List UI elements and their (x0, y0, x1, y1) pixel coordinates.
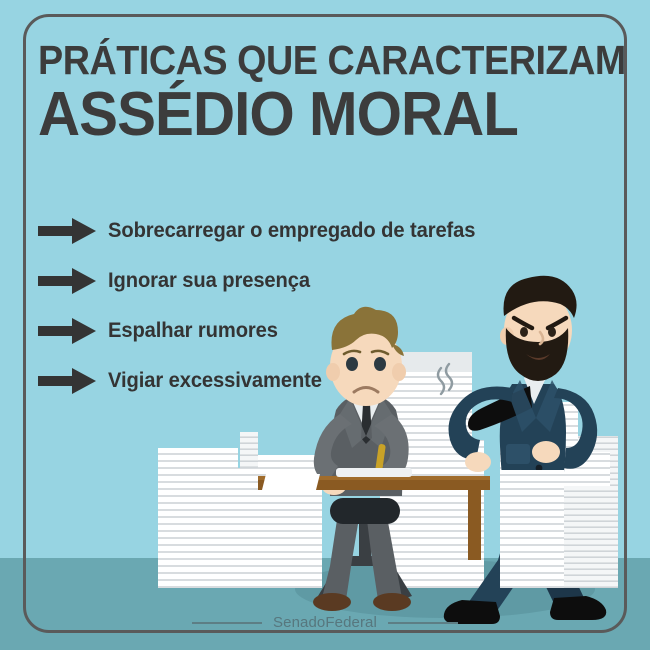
practices-list: Sobrecarregar o empregado de tarefas Ign… (38, 206, 491, 406)
list-item: Sobrecarregar o empregado de tarefas (38, 206, 491, 256)
boss-hand-right (532, 441, 560, 463)
arrow-right-icon (38, 268, 96, 294)
footer: SenadoFederal (0, 614, 650, 631)
list-item: Espalhar rumores (38, 306, 491, 356)
title-line-1: PRÁTICAS QUE CARACTERIZAM (38, 38, 626, 82)
title-line-2: ASSÉDIO MORAL (38, 84, 639, 146)
boss-eye-left (520, 327, 528, 337)
boss-eye-right (548, 327, 556, 337)
arrow-right-icon (38, 318, 96, 344)
list-item-label: Ignorar sua presença (108, 269, 310, 293)
infographic-poster: PRÁTICAS QUE CARACTERIZAM ASSÉDIO MORAL … (0, 0, 650, 650)
page-title: PRÁTICAS QUE CARACTERIZAM ASSÉDIO MORAL (38, 38, 650, 146)
list-item-label: Vigiar excessivamente (108, 369, 322, 393)
worker-shoe-left (313, 593, 351, 611)
boss-hand-left (465, 452, 491, 472)
list-item: Vigiar excessivamente (38, 356, 491, 406)
arrow-right-icon (38, 218, 96, 244)
footer-rule-left (192, 622, 262, 624)
chair-seat (330, 498, 400, 524)
list-item: Ignorar sua presença (38, 256, 491, 306)
list-item-label: Espalhar rumores (108, 319, 278, 343)
arrow-right-icon (38, 368, 96, 394)
footer-brand: SenadoFederal (273, 614, 377, 631)
footer-rule-right (388, 622, 458, 624)
worker-shoe-right (373, 593, 411, 611)
desk-document (336, 468, 412, 477)
list-item-label: Sobrecarregar o empregado de tarefas (108, 219, 475, 243)
